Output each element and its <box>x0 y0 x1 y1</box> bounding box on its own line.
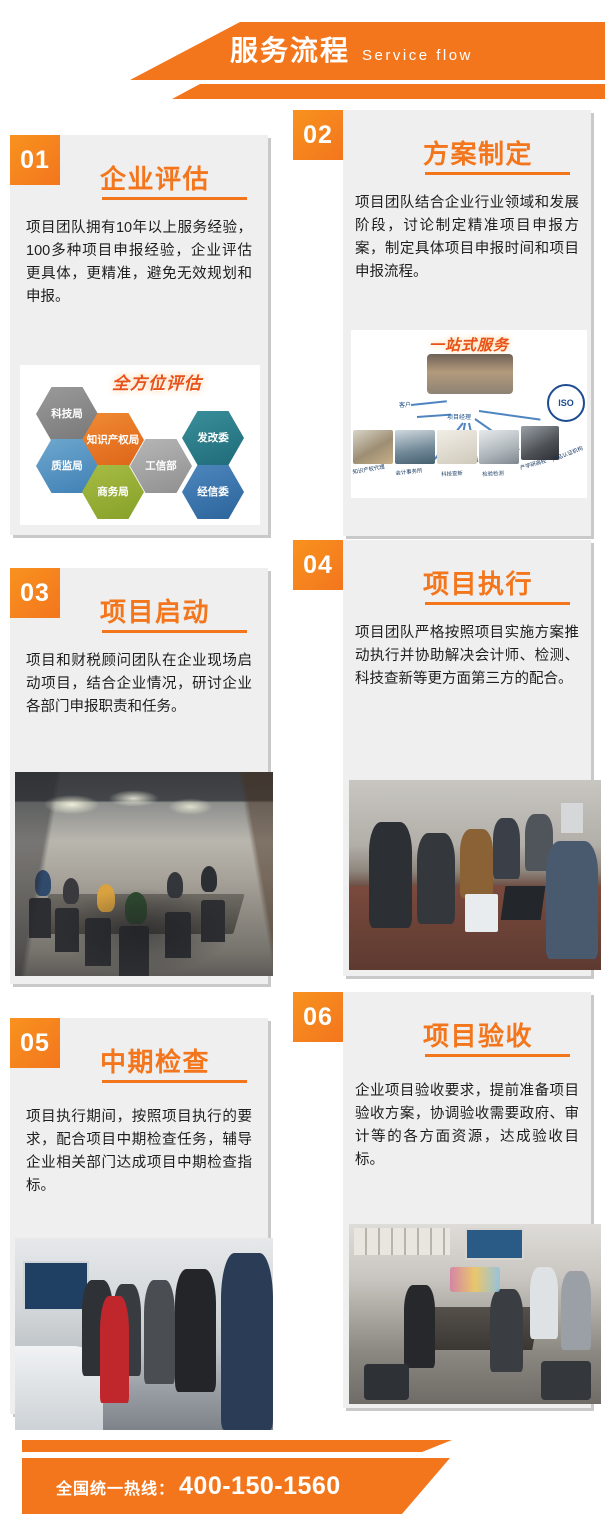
card-number-badge: 04 <box>293 540 343 590</box>
card-number-badge: 05 <box>10 1018 60 1068</box>
node-customer: 客户 <box>399 400 411 409</box>
card-01[interactable]: 01 企业评估 项目团队拥有10年以上服务经验，100多种项目申报经验，企业评估… <box>10 135 272 539</box>
card-number-badge: 02 <box>293 110 343 160</box>
header-title-group: 服务流程 Service flow <box>230 34 473 74</box>
arrow-1 <box>411 400 447 406</box>
page-title: 服务流程 <box>230 34 350 68</box>
card-05[interactable]: 05 中期检查 项目执行期间，按照项目执行的要求，配合项目中期检查任务，辅导企业… <box>10 1018 272 1418</box>
title-underline <box>102 630 247 633</box>
card-body-text: 项目和财税顾问团队在企业现场启动项目，结合企业情况，研讨企业各部门申报职责和任务… <box>26 650 252 719</box>
page-header: 服务流程 Service flow <box>0 0 605 105</box>
card-number-badge: 01 <box>10 135 60 185</box>
card-body-text: 项目团队拥有10年以上服务经验，100多种项目申报经验，企业评估更具体，更精准，… <box>26 217 252 309</box>
footer-accent-stripe <box>22 1440 605 1452</box>
graphic-title: 一站式服务 <box>351 334 587 355</box>
header-accent-stripe <box>0 84 605 99</box>
card-title: 方案制定 <box>423 134 533 171</box>
card-body-text: 项目团队严格按照项目实施方案推动执行并协助解决会计师、检测、科技查新等更方面第三… <box>355 622 579 691</box>
service-flow-infographic: 服务流程 Service flow 01 企业评估 项目团队拥有10年以上服务经… <box>0 0 605 1538</box>
arrow-2 <box>417 414 451 418</box>
photo-team-meeting <box>349 780 601 970</box>
hub-photo <box>427 354 513 394</box>
certification-seal-icon: ISO <box>547 384 585 422</box>
caption-accounting: 会计事务所 <box>395 466 423 477</box>
thumb-inspection <box>479 430 519 464</box>
hex-node-fagai: 发改委 <box>182 411 244 465</box>
title-underline <box>102 1080 247 1083</box>
assessment-hexagon-graphic: 全方位评估 科技局 知识产权局 质监局 工信部 商务局 发改委 经信委 <box>20 365 260 525</box>
card-title: 项目执行 <box>423 564 533 601</box>
page-footer: 全国统一热线： 400-150-1560 <box>0 1432 605 1538</box>
card-06[interactable]: 06 项目验收 企业项目验收要求，提前准备项目验收方案，协调验收需要政府、审计等… <box>293 992 595 1412</box>
title-underline <box>102 197 247 200</box>
graphic-title: 全方位评估 <box>112 369 202 394</box>
caption-ip-agency: 知识产权代理 <box>352 462 385 475</box>
one-stop-service-graphic: 一站式服务 客户 项目经理 ISO 知识产权代理 会计事务所 <box>351 330 587 498</box>
thumb-accounting <box>395 430 435 464</box>
thumb-tech-search <box>437 430 477 464</box>
photo-site-visit <box>15 1238 273 1430</box>
title-underline <box>425 1054 570 1057</box>
card-title: 企业评估 <box>100 159 210 196</box>
card-title: 中期检查 <box>100 1042 210 1079</box>
card-body-text: 项目团队结合企业行业领域和发展阶段，讨论制定精准项目申报方案，制定具体项目申报时… <box>355 192 579 284</box>
card-04[interactable]: 04 项目执行 项目团队严格按照项目实施方案推动执行并协助解决会计师、检测、科技… <box>293 540 595 980</box>
card-number-badge: 06 <box>293 992 343 1042</box>
hotline-label: 全国统一热线： <box>56 1475 175 1499</box>
thumb-ip-agency <box>353 430 393 464</box>
card-body-text: 企业项目验收要求，提前准备项目验收方案，协调验收需要政府、审计等的各方面资源，达… <box>355 1080 579 1172</box>
hotline-group: 全国统一热线： 400-150-1560 <box>56 1472 341 1501</box>
hex-node-jingxin: 经信委 <box>182 465 244 519</box>
photo-boardroom <box>349 1224 601 1404</box>
title-underline <box>425 602 570 605</box>
caption-inspection: 检验检测 <box>482 469 504 478</box>
hotline-number[interactable]: 400-150-1560 <box>179 1472 341 1501</box>
card-title: 项目启动 <box>100 592 210 629</box>
title-underline <box>425 172 570 175</box>
arrow-7 <box>479 410 541 421</box>
card-body-text: 项目执行期间，按照项目执行的要求，配合项目中期检查任务，辅导企业相关部门达成项目… <box>26 1106 252 1198</box>
photo-conference-room <box>15 772 273 976</box>
page-subtitle: Service flow <box>362 46 473 66</box>
card-02[interactable]: 02 方案制定 项目团队结合企业行业领域和发展阶段，讨论制定精准项目申报方案，制… <box>293 110 595 540</box>
card-number-badge: 03 <box>10 568 60 618</box>
card-03[interactable]: 03 项目启动 项目和财税顾问团队在企业现场启动项目，结合企业情况，研讨企业各部… <box>10 568 272 988</box>
caption-tech-search: 科技查新 <box>441 469 463 478</box>
card-title: 项目验收 <box>423 1016 533 1053</box>
